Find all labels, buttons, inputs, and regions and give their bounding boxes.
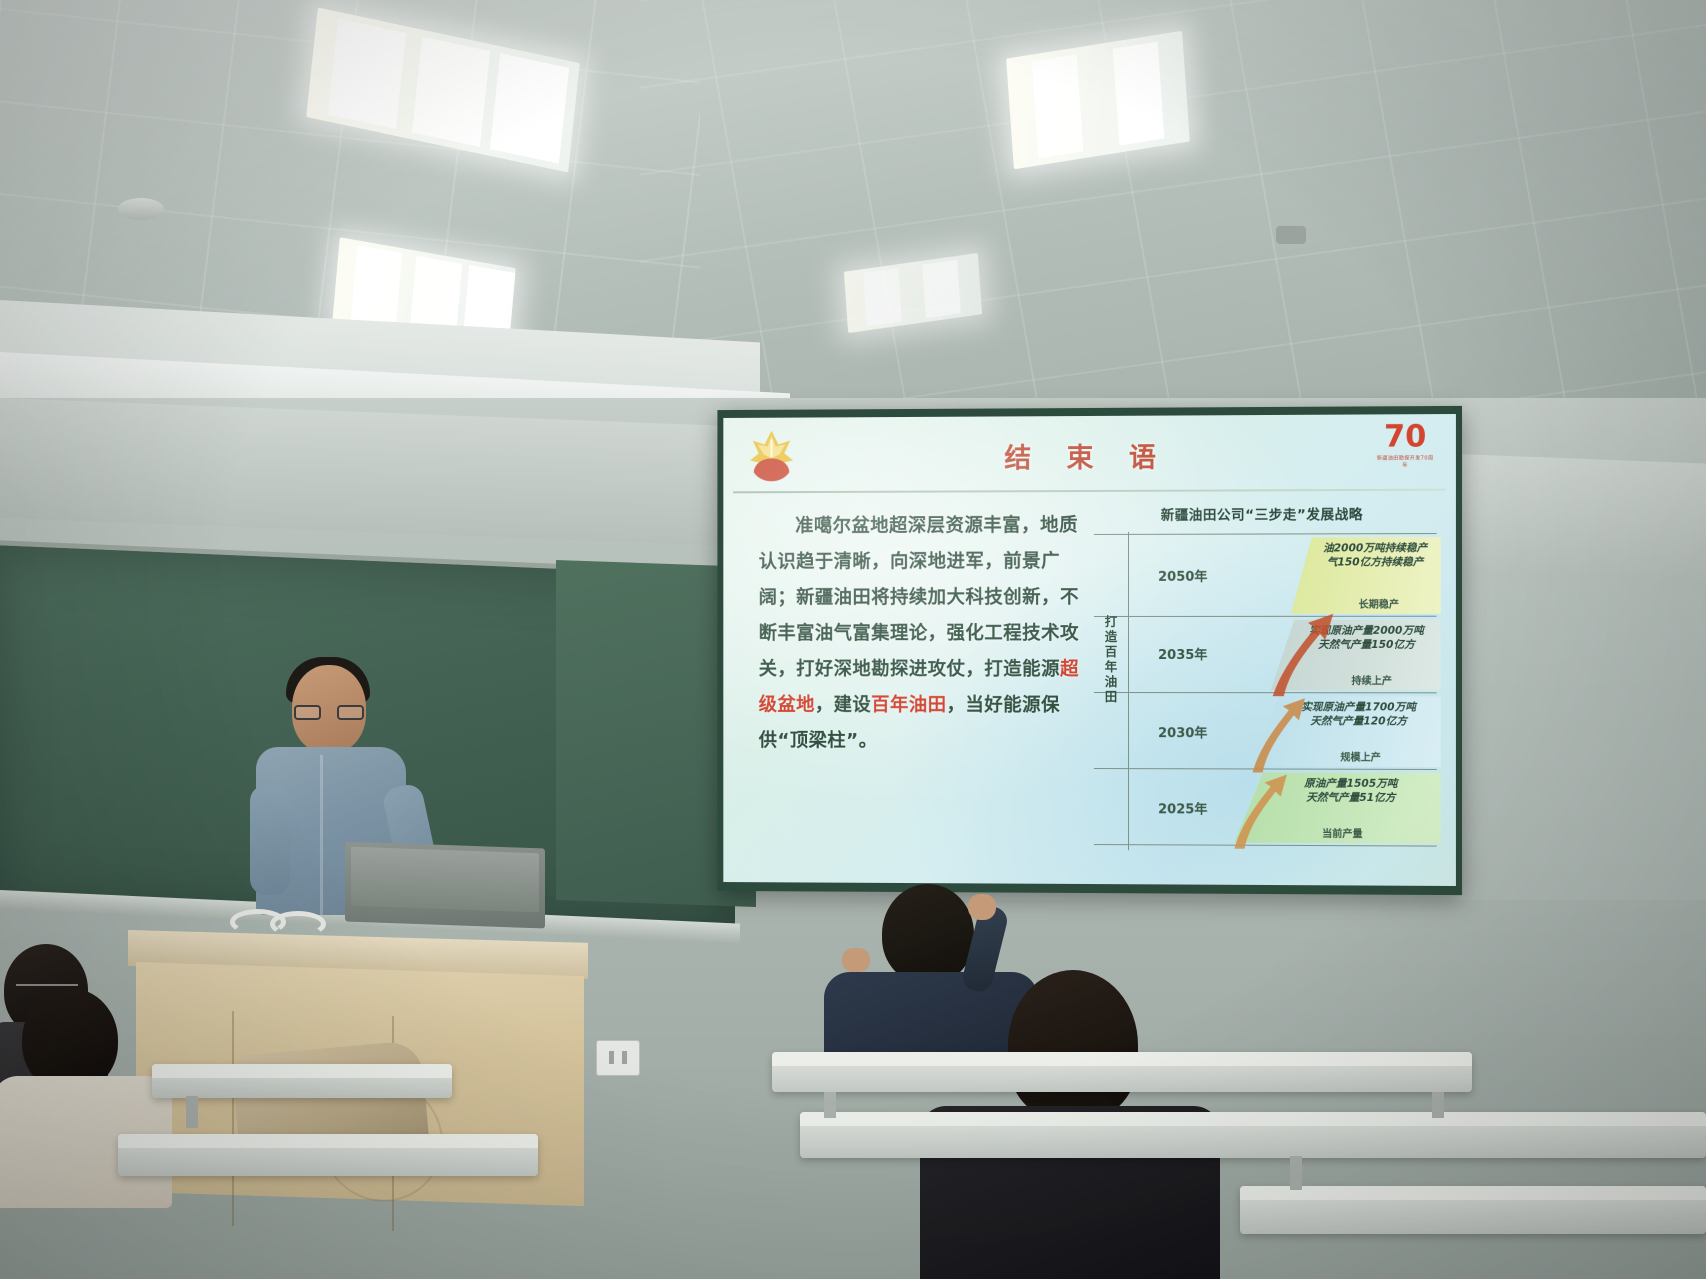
- presenter-left-arm: [250, 785, 290, 895]
- bench-leg-4: [186, 1096, 198, 1128]
- podium-monitor: [345, 842, 545, 929]
- year-label-2025: 2025年: [1158, 798, 1207, 817]
- bench-row-right-2: [800, 1112, 1706, 1158]
- bench-surface: [152, 1064, 452, 1078]
- bench-row-right-1: [772, 1052, 1472, 1092]
- projected-slide: 结 束 语 70 新疆油田勘探开发70周年 准噶尔盆地超深层资源丰富，地质认识趋…: [723, 414, 1456, 886]
- presenter-glasses: [294, 705, 364, 721]
- bench-row-left-1: [152, 1064, 452, 1098]
- paragraph-part-3: 百年油田: [871, 695, 946, 716]
- wall-power-outlet: [596, 1040, 640, 1076]
- lecture-hall-photo: 结 束 语 70 新疆油田勘探开发70周年 准噶尔盆地超深层资源丰富，地质认识趋…: [0, 0, 1706, 1279]
- projection-screen-frame: 结 束 语 70 新疆油田勘探开发70周年 准噶尔盆地超深层资源丰富，地质认识趋…: [717, 406, 1462, 895]
- year-label-2050: 2050年: [1158, 566, 1207, 585]
- bench-leg-3: [1290, 1156, 1302, 1190]
- growth-arrow-1: [1224, 768, 1290, 851]
- ceiling: [0, 0, 1706, 430]
- chart-plot-area: 打造百年油田 2050年 油2000万吨持续稳产 气150亿方持续稳产 长期稳产: [1094, 531, 1443, 856]
- slide-header: 结 束 语 70 新疆油田勘探开发70周年: [723, 414, 1456, 491]
- chart-title: 新疆油田公司“三步走”发展战略: [1080, 503, 1445, 524]
- slide-paragraph: 准噶尔盆地超深层资源丰富，地质认识趋于清晰，向深地进军，前景广阔；新疆油田将持续…: [759, 508, 1086, 760]
- bench-surface: [1240, 1186, 1706, 1200]
- chart-gridline-top: [1094, 533, 1437, 535]
- step-text-2050: 油2000万吨持续稳产 气150亿方持续稳产: [1312, 541, 1439, 569]
- bench-row-left-2: [118, 1134, 538, 1176]
- bench-surface: [772, 1052, 1472, 1066]
- axis-tick-4: [1124, 768, 1133, 769]
- anniversary-number: 70: [1375, 422, 1436, 453]
- axis-tick-5: [1124, 844, 1133, 845]
- paragraph-part-2: ，建设: [815, 695, 871, 716]
- presenter-shirt-seam: [320, 755, 323, 915]
- audience-head: [882, 884, 974, 984]
- slide-body: 准噶尔盆地超深层资源丰富，地质认识趋于清晰，向深地进军，前景广阔；新疆油田将持续…: [723, 493, 1456, 886]
- anniversary-caption: 新疆油田勘探开发70周年: [1375, 454, 1436, 468]
- bench-surface: [118, 1134, 538, 1148]
- ceiling-speaker: [1276, 226, 1306, 244]
- chart-vertical-axis: [1128, 532, 1129, 850]
- smoke-detector: [118, 198, 164, 220]
- audience-hand-2: [842, 948, 870, 972]
- step-note-2030: 规模上产: [1295, 748, 1427, 763]
- bench-surface: [800, 1112, 1706, 1126]
- bench-leg-2: [1432, 1092, 1444, 1118]
- growth-arrow-2: [1242, 692, 1309, 774]
- step-note-2025: 当前产量: [1277, 825, 1408, 841]
- growth-arrow-3: [1263, 610, 1336, 699]
- bench-leg-1: [824, 1092, 836, 1118]
- step-line1-2050: 油2000万吨持续稳产: [1312, 541, 1439, 555]
- paragraph-part-0: 准噶尔盆地超深层资源丰富，地质认识趋于清晰，向深地进军，前景广阔；新疆油田将持续…: [759, 515, 1079, 680]
- audience-hand: [968, 894, 996, 920]
- axis-tick-2: [1124, 616, 1133, 617]
- axis-tick-3: [1124, 692, 1133, 693]
- chart-axis-label: 打造百年油田: [1100, 614, 1122, 704]
- year-label-2035: 2035年: [1158, 644, 1207, 663]
- anniversary-logo: 70 新疆油田勘探开发70周年: [1375, 422, 1436, 481]
- monitor-screen: [351, 847, 539, 913]
- three-step-strategy-chart: 新疆油田公司“三步走”发展战略 打造: [1080, 497, 1451, 880]
- year-label-2030: 2030年: [1158, 722, 1207, 741]
- lectern-seam-1: [232, 1011, 234, 1226]
- bench-row-right-3: [1240, 1186, 1706, 1234]
- step-note-2050: 长期稳产: [1323, 596, 1434, 611]
- axis-tick-1: [1124, 534, 1133, 535]
- slide-title: 结 束 语: [723, 434, 1456, 476]
- step-line2-2050: 气150亿方持续稳产: [1312, 555, 1439, 569]
